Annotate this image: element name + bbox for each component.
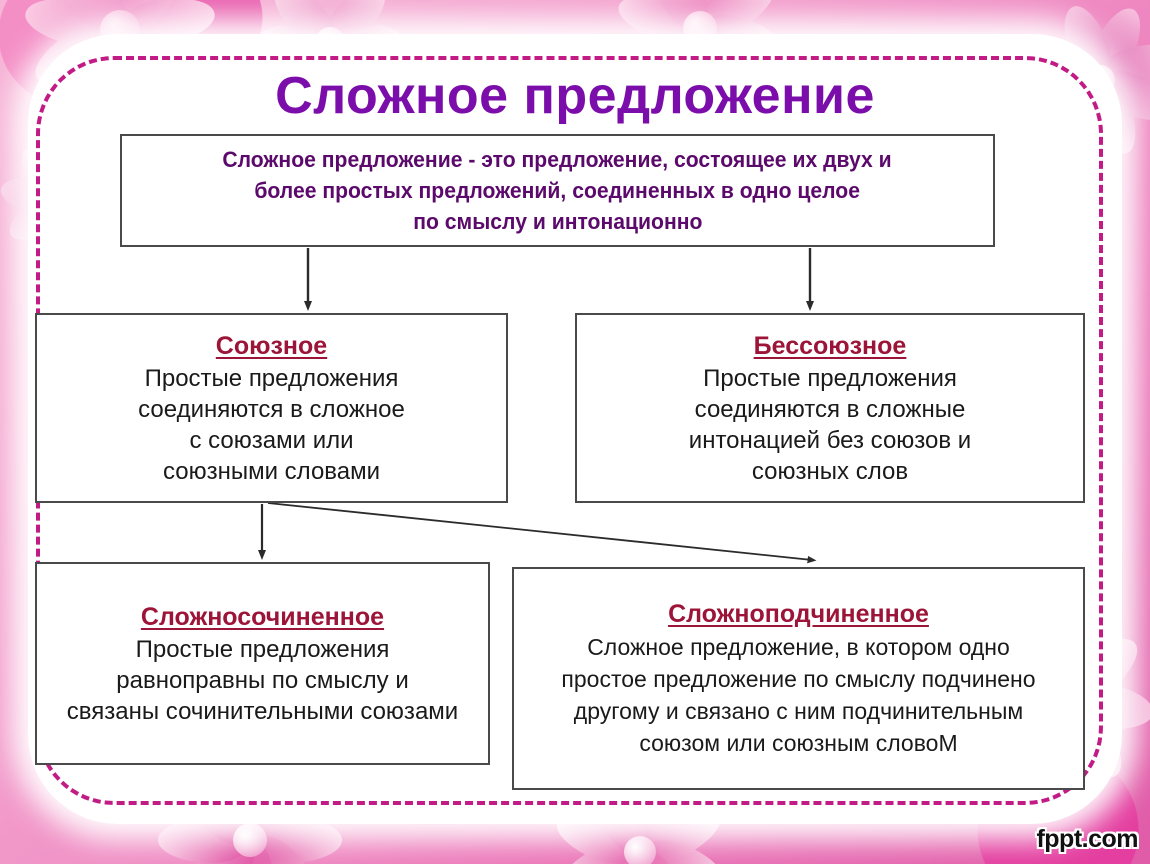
slozhnopodchinennoe-line-2: простое предложение по смыслу подчинено (561, 663, 1035, 695)
bessoyuznoe-box: Бессоюзное Простые предложения соединяют… (575, 313, 1085, 503)
soyuznoe-line-1: Простые предложения (145, 363, 399, 394)
soyuznoe-heading: Союзное (216, 330, 327, 363)
definition-line-1: Сложное предложение - это предложение, с… (223, 144, 892, 175)
slozhnosochinennoe-box: Сложносочиненное Простые предложения рав… (35, 562, 490, 765)
soyuznoe-line-3: с союзами или (189, 425, 353, 456)
slozhnopodchinennoe-line-4: союзом или союзным словоМ (639, 727, 957, 759)
fppt-watermark: fppt.com (1036, 825, 1138, 854)
slide-canvas: Сложное предложение Сложное пре (0, 0, 1150, 864)
soyuznoe-box: Союзное Простые предложения соединяются … (35, 313, 508, 503)
slozhnosochinennoe-line-2: равноправны по смыслу и (116, 665, 409, 696)
slozhnopodchinennoe-heading: Сложноподчиненное (668, 598, 929, 631)
slozhnosochinennoe-line-3: связаны сочинительными союзами (67, 696, 458, 727)
soyuznoe-line-4: союзными словами (163, 456, 380, 487)
page-title: Сложное предложение (0, 66, 1150, 126)
definition-box: Сложное предложение - это предложение, с… (120, 134, 995, 247)
bessoyuznoe-line-1: Простые предложения (703, 363, 957, 394)
bessoyuznoe-line-4: союзных слов (752, 456, 908, 487)
bessoyuznoe-line-2: соединяются в сложные (695, 394, 966, 425)
definition-line-3: по смыслу и интонационно (413, 206, 702, 237)
slozhnosochinennoe-heading: Сложносочиненное (141, 601, 384, 634)
soyuznoe-line-2: соединяются в сложное (138, 394, 405, 425)
definition-line-2: более простых предложений, соединенных в… (255, 175, 861, 206)
bessoyuznoe-heading: Бессоюзное (754, 330, 907, 363)
slozhnosochinennoe-line-1: Простые предложения (136, 634, 390, 665)
bessoyuznoe-line-3: интонацией без союзов и (689, 425, 971, 456)
slozhnopodchinennoe-box: Сложноподчиненное Сложное предложение, в… (512, 567, 1085, 790)
slozhnopodchinennoe-line-1: Сложное предложение, в котором одно (587, 631, 1010, 663)
slozhnopodchinennoe-line-3: другому и связано с ним подчинительным (574, 695, 1023, 727)
